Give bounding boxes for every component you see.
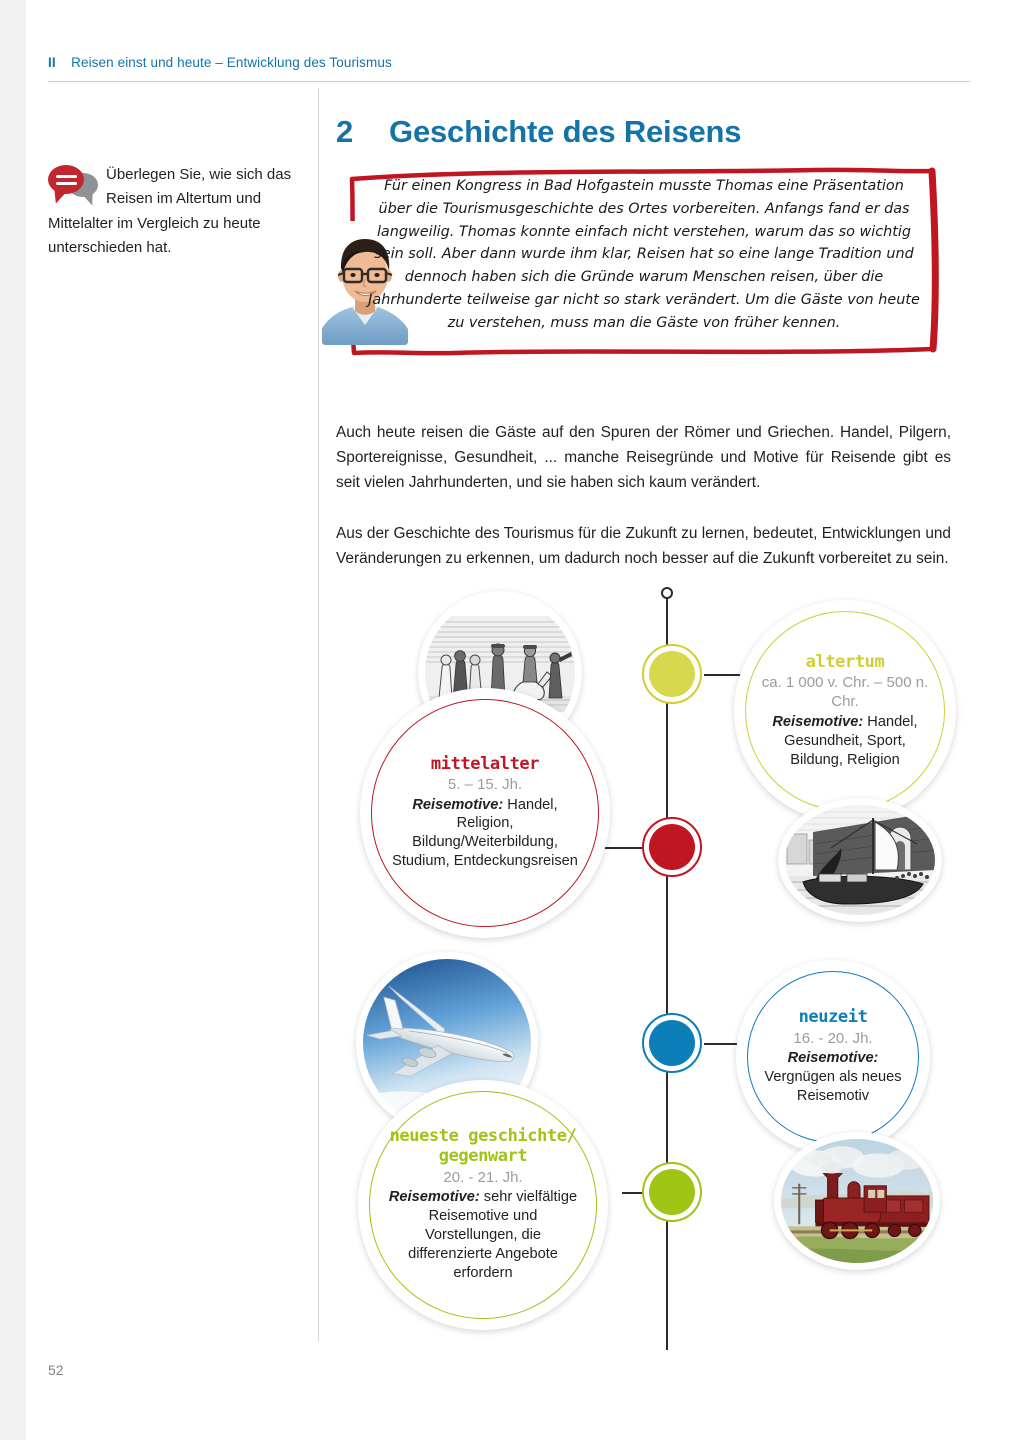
running-head: II Reisen einst und heute – Entwicklung … xyxy=(48,55,392,70)
node-title-gegenwart: neueste geschichte/ gegenwart xyxy=(385,1127,581,1166)
timeline-dot-fill-gegenwart xyxy=(649,1169,695,1215)
speech-bubble-line-1 xyxy=(56,175,77,178)
node-desc-mittelalter: Reisemotive: Handel, Religion, Bildung/W… xyxy=(387,796,583,872)
timeline-axis-cap-icon xyxy=(661,587,673,599)
timeline-node-neuzeit[interactable]: neuzeit 16. - 20. Jh. Reisemotive: Vergn… xyxy=(736,960,930,1154)
running-head-title: Reisen einst und heute – Entwicklung des… xyxy=(71,55,392,70)
page-edge-band xyxy=(0,0,26,1440)
body-paragraph-2: Aus der Geschichte des Tourismus für die… xyxy=(336,521,951,571)
body-paragraph-1: Auch heute reisen die Gäste auf den Spur… xyxy=(336,420,951,495)
running-head-number: II xyxy=(48,55,56,70)
connector-altertum xyxy=(704,674,742,676)
node-title-neuzeit: neuzeit xyxy=(799,1008,868,1028)
node-desc-lead-gegenwart: Reisemotive: xyxy=(389,1189,480,1205)
header-rule xyxy=(48,81,970,82)
running-head-spacer xyxy=(60,55,68,70)
timeline-node-mittelalter[interactable]: mittelalter 5. – 15. Jh. Reisemotive: Ha… xyxy=(360,688,610,938)
node-era-altertum: ca. 1 000 v. Chr. – 500 n. Chr. xyxy=(761,673,929,711)
body-copy: Auch heute reisen die Gäste auf den Spur… xyxy=(336,420,951,572)
node-desc-gegenwart: Reisemotive: sehr vielfältige Reisemotiv… xyxy=(385,1188,581,1283)
chapter-title-text: Geschichte des Reisens xyxy=(389,114,741,149)
antique-harbour-ship-engraving xyxy=(785,805,935,915)
chapter-number: 2 xyxy=(336,114,353,149)
image-circle-neuzeit xyxy=(774,1132,940,1270)
timeline-axis xyxy=(666,594,668,1350)
speech-bubble-front xyxy=(48,165,84,194)
timeline-dot-fill-neuzeit xyxy=(649,1020,695,1066)
page-number: 52 xyxy=(48,1362,64,1378)
speech-bubble-line-2 xyxy=(56,182,77,185)
quote-box: Für einen Kongress in Bad Hofgastein mus… xyxy=(344,163,940,359)
node-desc-altertum: Reisemotive: Handel, Gesundheit, Sport, … xyxy=(761,713,929,770)
connector-mittelalter xyxy=(604,847,642,849)
image-circle-altertum xyxy=(778,798,942,922)
node-desc-lead-mittelalter: Reisemotive: xyxy=(412,797,503,813)
node-title-altertum: altertum xyxy=(806,653,885,673)
column-divider xyxy=(318,88,319,1341)
timeline-dot-mittelalter[interactable] xyxy=(642,817,702,877)
node-era-gegenwart: 20. - 21. Jh. xyxy=(443,1168,522,1187)
speech-bubble-icon xyxy=(48,165,100,207)
node-desc-neuzeit: Reisemotive: Vergnügen als neues Reisemo… xyxy=(763,1049,903,1106)
node-desc-lead-neuzeit: Reisemotive: xyxy=(788,1050,879,1066)
timeline-node-altertum[interactable]: altertum ca. 1 000 v. Chr. – 500 n. Chr.… xyxy=(734,600,956,822)
timeline-dot-neuzeit[interactable] xyxy=(642,1013,702,1073)
node-era-neuzeit: 16. - 20. Jh. xyxy=(793,1029,872,1048)
timeline-node-gegenwart[interactable]: neueste geschichte/ gegenwart 20. - 21. … xyxy=(358,1080,608,1330)
page-title: 2Geschichte des Reisens xyxy=(336,114,741,150)
timeline-graphic: mittelalter 5. – 15. Jh. Reisemotive: Ha… xyxy=(336,580,956,1350)
sidebar-note: Überlegen Sie, wie sich das Reisen im Al… xyxy=(48,163,296,260)
steam-locomotive-painting xyxy=(781,1139,933,1263)
node-desc-text-neuzeit: Vergnügen als neues Reisemotiv xyxy=(764,1069,901,1104)
timeline-dot-altertum[interactable] xyxy=(642,644,702,704)
node-title-mittelalter: mittelalter xyxy=(431,755,539,775)
node-era-mittelalter: 5. – 15. Jh. xyxy=(448,775,522,794)
timeline-dot-fill-altertum xyxy=(649,651,695,697)
quote-text: Für einen Kongress in Bad Hofgastein mus… xyxy=(366,175,922,335)
timeline-dot-gegenwart[interactable] xyxy=(642,1162,702,1222)
node-desc-lead-altertum: Reisemotive: xyxy=(772,714,863,730)
timeline-dot-fill-mittelalter xyxy=(649,824,695,870)
